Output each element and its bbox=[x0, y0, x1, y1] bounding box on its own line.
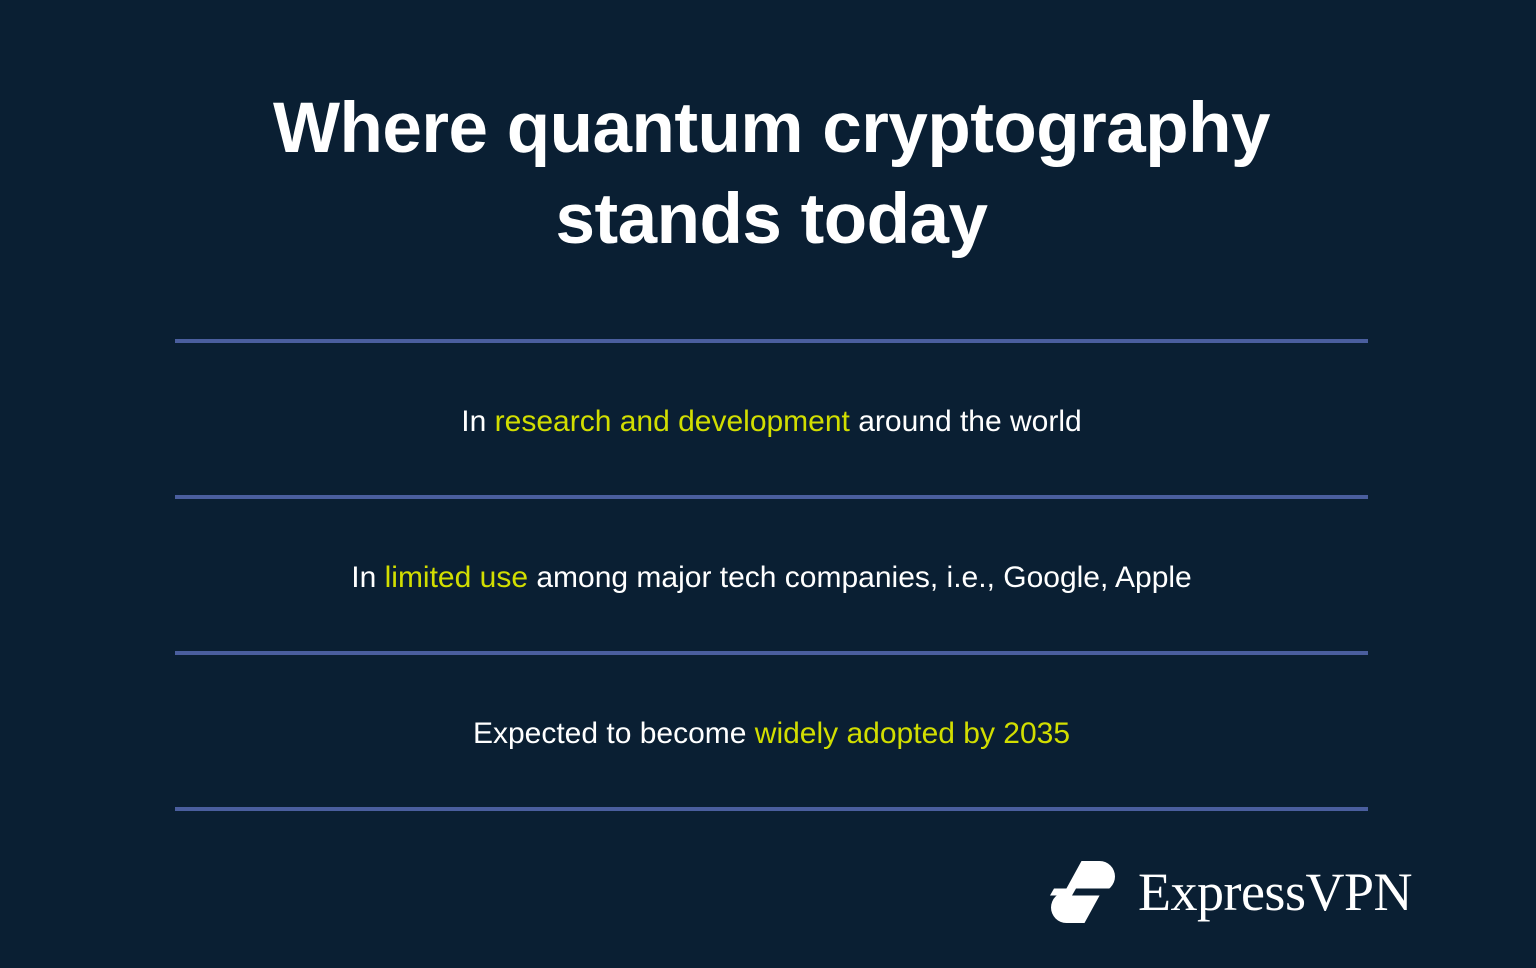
divider-rule-1 bbox=[175, 339, 1368, 343]
expressvpn-logo: ExpressVPN bbox=[1046, 848, 1372, 936]
fact-row-1-suffix: around the world bbox=[850, 405, 1082, 438]
expressvpn-wordmark: ExpressVPN bbox=[1138, 865, 1412, 919]
page-title-line-1: Where quantum cryptography bbox=[175, 84, 1368, 175]
fact-row-widely-adopted-2035: Expected to become widely adopted by 203… bbox=[175, 714, 1368, 755]
expressvpn-e-mark-icon bbox=[1046, 855, 1120, 929]
fact-row-limited-use: In limited use among major tech companie… bbox=[175, 558, 1368, 599]
divider-rule-3 bbox=[175, 651, 1368, 655]
divider-rule-2 bbox=[175, 495, 1368, 499]
infographic-slide: Where quantum cryptography stands today … bbox=[0, 0, 1536, 968]
fact-row-1-prefix: In bbox=[461, 405, 494, 438]
divider-rule-4 bbox=[175, 807, 1368, 811]
fact-row-2-highlight: limited use bbox=[385, 561, 528, 594]
fact-row-2-prefix: In bbox=[351, 561, 384, 594]
fact-row-2-suffix: among major tech companies, i.e., Google… bbox=[528, 561, 1192, 594]
page-title-line-2: stands today bbox=[175, 175, 1368, 266]
fact-row-1-highlight: research and development bbox=[495, 405, 850, 438]
fact-row-3-prefix: Expected to become bbox=[473, 717, 755, 750]
fact-row-research-and-development: In research and development around the w… bbox=[175, 402, 1368, 443]
page-title: Where quantum cryptography stands today bbox=[175, 84, 1368, 266]
fact-row-3-highlight: widely adopted by 2035 bbox=[755, 717, 1070, 750]
